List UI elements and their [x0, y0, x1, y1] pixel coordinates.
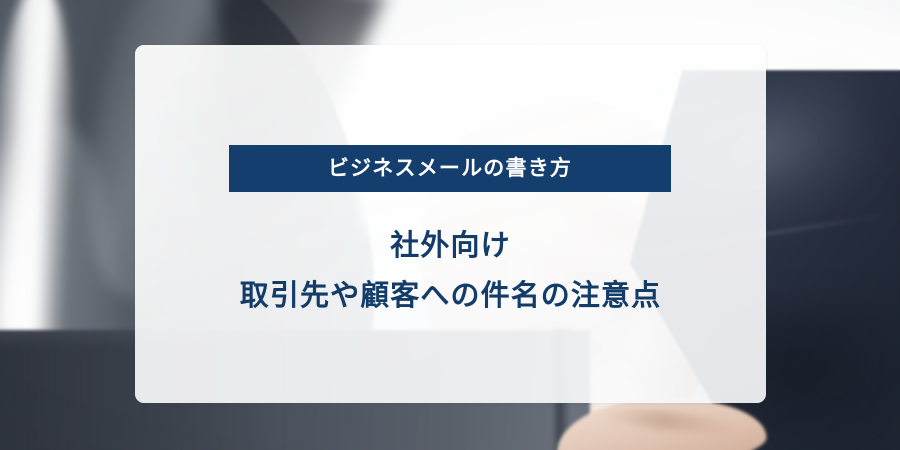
- content-card: ビジネスメールの書き方 社外向け 取引先や顧客への件名の注意点: [135, 45, 766, 403]
- page-title-line-2: 取引先や顧客への件名の注意点: [135, 271, 766, 321]
- page-title-line-1: 社外向け: [135, 221, 766, 271]
- banner-image: ビジネスメールの書き方 社外向け 取引先や顧客への件名の注意点: [0, 0, 900, 450]
- category-banner: ビジネスメールの書き方: [229, 145, 671, 192]
- category-banner-label: ビジネスメールの書き方: [328, 158, 572, 179]
- page-title: 社外向け 取引先や顧客への件名の注意点: [135, 221, 766, 321]
